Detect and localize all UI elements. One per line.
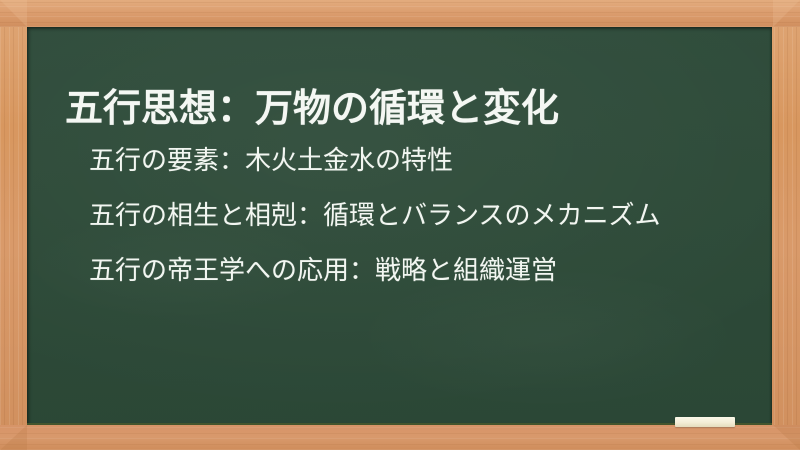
frame-miter-bottom-right [773, 425, 800, 450]
list-item: 五行の帝王学への応用：戦略と組織運営 [89, 244, 660, 299]
chalkboard-surface: 五行思想：万物の循環と変化 五行の要素：木火土金水の特性 五行の相生と相剋：循環… [27, 27, 772, 425]
frame-miter-top-right [773, 0, 800, 27]
chalk-stick-icon [675, 417, 735, 427]
board-bottom-edge [27, 423, 772, 425]
list-item: 五行の相生と相剋：循環とバランスのメカニズム [89, 189, 660, 244]
frame-miter-top-left [0, 0, 27, 27]
frame-miter-bottom-left [0, 425, 27, 450]
frame-rail-bottom-ledge [0, 425, 800, 450]
page-title: 五行思想：万物の循環と変化 [65, 85, 559, 131]
list-item: 五行の要素：木火土金水の特性 [89, 134, 660, 189]
bullet-list: 五行の要素：木火土金水の特性 五行の相生と相剋：循環とバランスのメカニズム 五行… [89, 134, 660, 299]
slide-screenshot: 五行思想：万物の循環と変化 五行の要素：木火土金水の特性 五行の相生と相剋：循環… [0, 0, 800, 450]
frame-rail-top [0, 0, 800, 27]
